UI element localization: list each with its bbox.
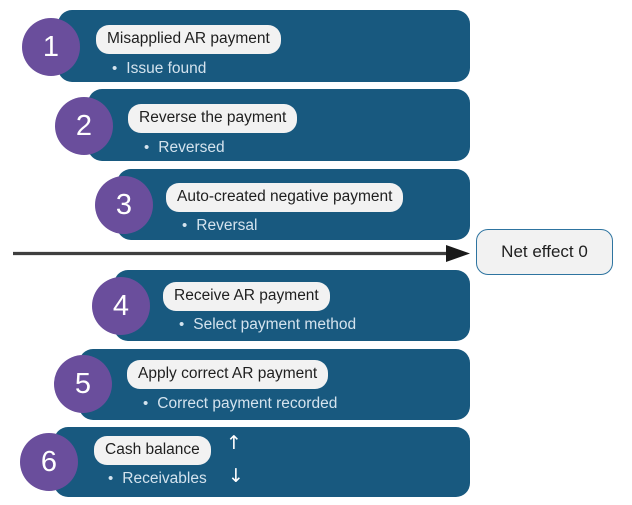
bullet-dot-icon: • [179, 317, 184, 332]
bullet-dot-icon: • [182, 218, 187, 233]
step-bullet-1: •Issue found [112, 61, 206, 77]
step-bullet-text-2: Reversed [158, 139, 224, 156]
step-number-badge-1: 1 [22, 18, 80, 76]
bullet-dot-icon: • [144, 140, 149, 155]
step-title-3: Auto-created negative payment [166, 183, 403, 212]
diagram-canvas: 1 Misapplied AR payment •Issue found 2 R… [0, 0, 632, 505]
step-bullet-text-6: Receivables [122, 470, 206, 487]
step-bullet-text-4: Select payment method [193, 316, 356, 333]
step-bullet-2: •Reversed [144, 140, 225, 156]
step-title-5: Apply correct AR payment [127, 360, 328, 389]
step-bullet-text-3: Reversal [196, 217, 257, 234]
step-title-6: Cash balance [94, 436, 211, 465]
step-number-badge-5: 5 [54, 355, 112, 413]
step-bullet-3: •Reversal [182, 218, 257, 234]
bullet-dot-icon: • [112, 61, 117, 76]
step-number-badge-3: 3 [95, 176, 153, 234]
step-bullet-6: •Receivables [108, 471, 207, 487]
step-number-badge-2: 2 [55, 97, 113, 155]
step-title-1: Misapplied AR payment [96, 25, 281, 54]
step-bullet-text-1: Issue found [126, 60, 206, 77]
net-effect-callout: Net effect 0 [476, 229, 613, 275]
step-bullet-5: •Correct payment recorded [143, 396, 337, 412]
step-number-badge-6: 6 [20, 433, 78, 491]
bullet-dot-icon: • [143, 396, 148, 411]
step-bullet-4: •Select payment method [179, 317, 356, 333]
bullet-dot-icon: • [108, 471, 113, 486]
cash-balance-up-arrow-icon: ↑ [226, 434, 242, 453]
step-bullet-text-5: Correct payment recorded [157, 395, 337, 412]
net-effect-connector-arrow-icon [0, 238, 480, 270]
receivables-down-arrow-icon: ↓ [228, 467, 244, 486]
step-number-badge-4: 4 [92, 277, 150, 335]
net-effect-label: Net effect 0 [501, 242, 588, 262]
step-title-2: Reverse the payment [128, 104, 297, 133]
step-title-4: Receive AR payment [163, 282, 330, 311]
